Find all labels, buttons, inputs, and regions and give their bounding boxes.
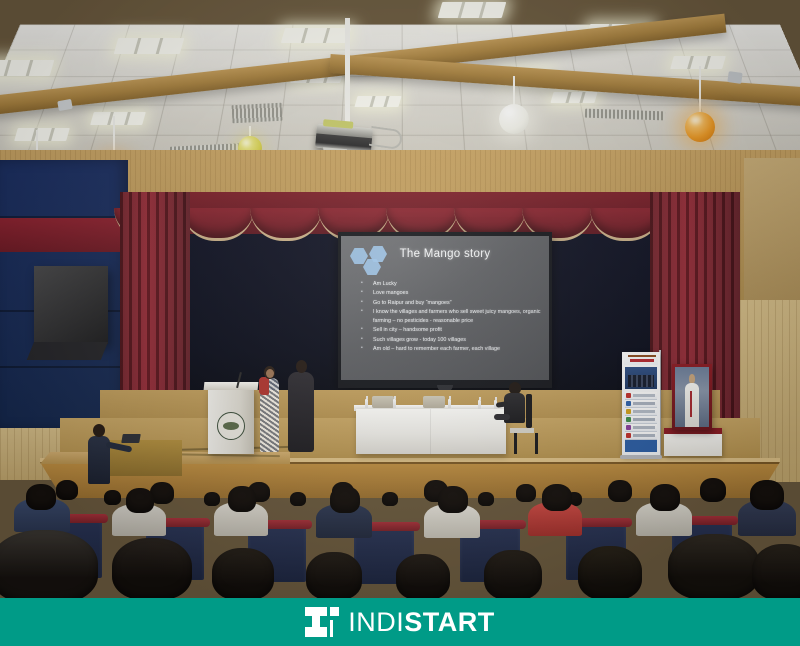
slide-bullet: Am old – hard to remember each farmer, e… (361, 345, 541, 354)
fluorescent-panel (550, 92, 597, 103)
projection-screen: The Mango story Am Lucky Love mangoes Go… (338, 232, 552, 388)
audience-head (516, 484, 536, 502)
banner-photo (625, 367, 657, 389)
audience-head (228, 486, 256, 512)
banner-footer (625, 440, 657, 452)
audience-head (290, 492, 306, 506)
audience-head (750, 480, 784, 510)
laptop (121, 434, 141, 443)
water-bottle (393, 399, 396, 408)
person-face (266, 369, 274, 378)
slide-bullet: I know the villages and farmers who sell… (361, 308, 541, 327)
audience-head-foreground (112, 538, 192, 598)
audience-head-foreground (212, 548, 274, 598)
audience-head-foreground (752, 544, 800, 598)
portrait-pedestal (664, 428, 722, 456)
audience-head (56, 480, 78, 500)
audience-head-foreground (668, 534, 760, 598)
audience-head (700, 478, 726, 502)
banner-sponsor-row (625, 416, 657, 424)
framed-portrait (672, 364, 712, 430)
banner-sponsor-row (625, 400, 657, 408)
slide-title: The Mango story (341, 248, 549, 260)
water-bottle (365, 399, 368, 408)
brand-name-bold: START (404, 607, 495, 637)
sponsor-rollup-banner (622, 352, 660, 456)
audience-head (104, 490, 121, 505)
audience-head-foreground (306, 552, 362, 598)
slide-bullet: Love mangoes (361, 289, 541, 298)
institution-emblem (217, 412, 245, 440)
slide: The Mango story Am Lucky Love mangoes Go… (341, 236, 549, 380)
seated-panelist (504, 382, 526, 434)
banner-sponsor-row (625, 424, 657, 432)
slide-bullets: Am Lucky Love mangoes Go to Raipur and b… (361, 280, 541, 354)
banner-sponsor-row (625, 392, 657, 400)
brand-name: INDISTART (348, 607, 495, 638)
portrait-robe (685, 383, 699, 427)
projector (315, 124, 373, 153)
fluorescent-panel (438, 2, 507, 18)
brand-name-light: INDI (348, 607, 404, 637)
audience-head (650, 484, 680, 511)
red-accent-band (0, 218, 122, 252)
fluorescent-panel (281, 28, 351, 43)
audience-head (608, 480, 632, 502)
audience-head (330, 486, 360, 513)
globe-lamp-orange-right (699, 66, 701, 118)
audience-head (542, 484, 572, 511)
banner-base (620, 455, 662, 459)
audience-head (438, 486, 468, 513)
air-vent (232, 103, 283, 124)
banner-sponsor-row (625, 432, 657, 440)
speaker-in-sari (258, 366, 280, 452)
person-leg (494, 414, 510, 420)
slide-bullet: Go to Raipur and buy “mangoes” (361, 299, 541, 308)
fluorescent-panel (670, 56, 726, 69)
fluorescent-panel (0, 60, 54, 76)
indistart-brand-bar: INDISTART (0, 598, 800, 646)
audience-head-foreground (578, 546, 642, 598)
loudspeaker (34, 266, 108, 344)
fluorescent-panel (114, 38, 185, 54)
water-bottle (448, 399, 451, 408)
lectern (208, 388, 254, 454)
audience-head (478, 492, 494, 506)
head-table-cloth (356, 409, 506, 454)
portrait-image (675, 367, 709, 427)
chair-at-table (423, 396, 445, 408)
audience-head (382, 492, 398, 506)
projector-mount-pole (345, 18, 350, 124)
screenshot-root: The Mango story Am Lucky Love mangoes Go… (0, 0, 800, 646)
auditorium-photo: The Mango story Am Lucky Love mangoes Go… (0, 0, 800, 598)
wood-panel-right (744, 158, 800, 308)
audience-head-foreground (396, 554, 450, 598)
audience-head (204, 492, 220, 506)
fluorescent-panel (354, 96, 401, 107)
water-bottle (478, 400, 481, 409)
fluorescent-panel (14, 128, 70, 141)
globe-lamp-white-right (513, 76, 515, 110)
slide-bullet: Such villages grow - today 100 villages (361, 336, 541, 345)
person-scarf (259, 377, 269, 395)
indistart-logo-mark-icon (305, 607, 339, 637)
slide-bullet: Sell in city – handsome profit (361, 326, 541, 335)
banner-header (624, 354, 658, 365)
audience (0, 474, 800, 598)
wall-spotlight (727, 71, 742, 84)
lectern-top (204, 382, 259, 390)
fluorescent-panel (90, 112, 146, 125)
slide-bullet: Am Lucky (361, 280, 541, 289)
portrait-sash (690, 391, 692, 417)
audience-head (26, 484, 56, 510)
chair-at-table (372, 396, 394, 408)
attendant-in-dark-clothing (288, 360, 314, 452)
audience-head (126, 488, 154, 513)
person-head (296, 360, 307, 373)
banner-sponsor-row (625, 408, 657, 416)
globe-lamp-yellow-center (249, 126, 251, 140)
person-body (288, 372, 314, 452)
audience-head-foreground (0, 530, 98, 598)
person-head (93, 424, 105, 437)
audience-head-foreground (484, 550, 542, 598)
